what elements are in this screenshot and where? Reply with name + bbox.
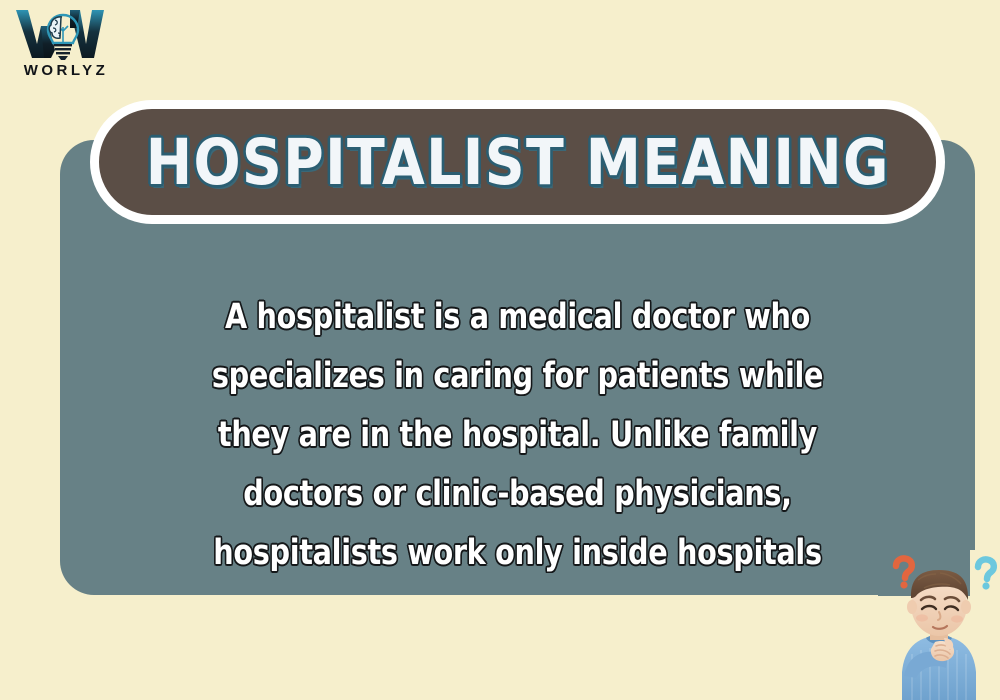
body-line: specializes in caring for patients while bbox=[183, 347, 851, 406]
body-line: hospitalists work only inside hospitals bbox=[183, 524, 851, 583]
page-title: HOSPITALIST MEANING bbox=[145, 131, 889, 194]
w-brain-lightbulb-icon bbox=[8, 6, 118, 62]
brand-logo[interactable]: WORLYZ bbox=[8, 6, 118, 84]
thinking-person-illustration bbox=[878, 550, 1000, 700]
body-line: doctors or clinic-based physicians, bbox=[183, 465, 851, 524]
body-line: they are in the hospital. Unlike family bbox=[183, 406, 851, 465]
body-copy: A hospitalist is a medical doctor who sp… bbox=[110, 288, 925, 583]
body-line: A hospitalist is a medical doctor who bbox=[183, 288, 851, 347]
title-banner: HOSPITALIST MEANING bbox=[90, 100, 945, 224]
brand-wordmark: WORLYZ bbox=[16, 62, 116, 79]
